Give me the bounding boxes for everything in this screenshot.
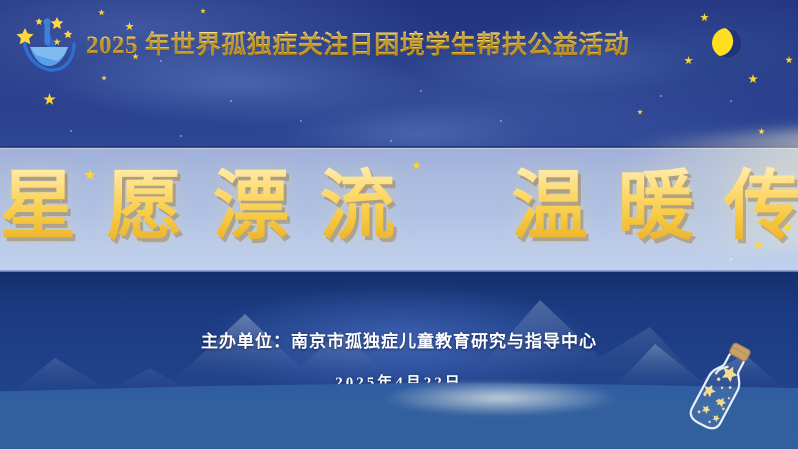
sky-cloud-wash bbox=[0, 0, 798, 152]
sky-speck bbox=[230, 100, 232, 102]
night-sky-background bbox=[0, 0, 798, 152]
event-poster: 2025 年世界孤独症关注日困境学生帮扶公益活动 2025 年世界孤独症关注日困… bbox=[0, 0, 798, 449]
sky-speck bbox=[500, 120, 502, 122]
sky-speck bbox=[180, 135, 182, 137]
main-slogan: 星 愿 漂 流 温 暖 传 递 bbox=[0, 158, 798, 254]
page-title: 2025 年世界孤独症关注日困境学生帮扶公益活动 bbox=[86, 25, 629, 61]
star-boat-logo-icon bbox=[16, 14, 82, 76]
star-bottle-icon bbox=[676, 340, 784, 444]
sky-speck bbox=[70, 130, 72, 132]
sky-speck bbox=[300, 120, 302, 122]
sky-speck bbox=[660, 95, 662, 97]
sky-speck bbox=[420, 90, 422, 92]
band-speck bbox=[730, 258, 732, 260]
sky-speck bbox=[390, 140, 392, 142]
water-reflection-highlight bbox=[330, 374, 670, 422]
sky-speck bbox=[730, 100, 732, 102]
